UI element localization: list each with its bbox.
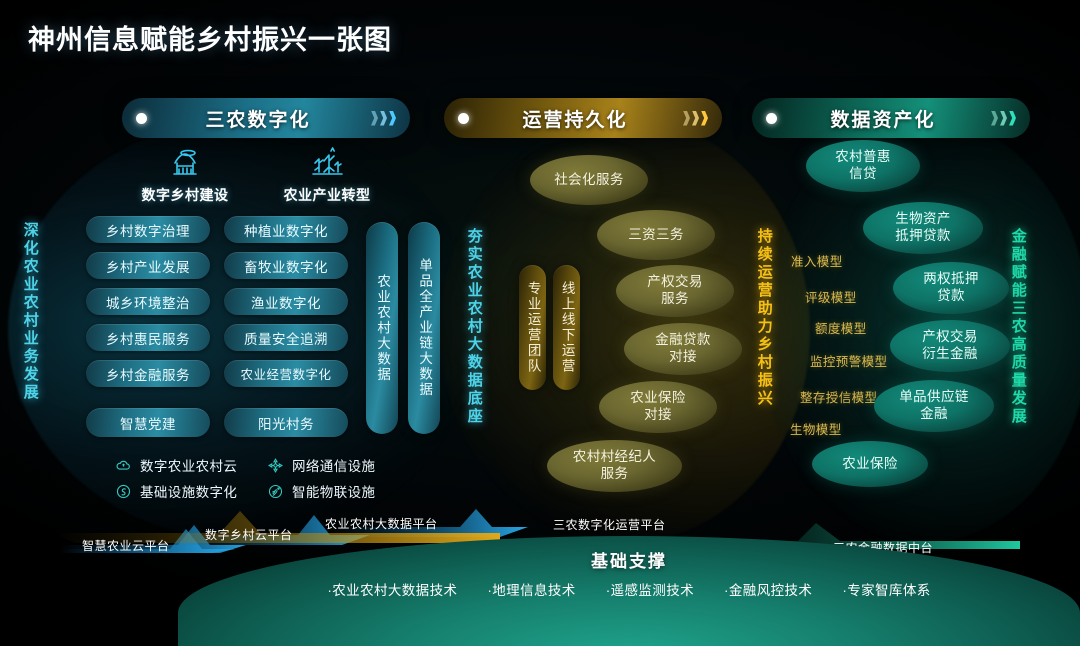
model-label: 整存授信模型 [800,387,877,406]
chevron-right-icon [681,111,708,126]
ellipse-insurance-matching[interactable]: 农业保险对接 [599,381,717,433]
base-item: 金融风控技术 [724,579,812,599]
panel-header-asset[interactable]: 数据资产化 [752,98,1030,138]
chip-item[interactable]: 质量安全追溯 [224,324,348,351]
chip-item[interactable]: 乡村金融服务 [86,360,210,387]
bullet-dot-icon [458,113,469,124]
ellipse-agri-insurance[interactable]: 农业保险 [812,441,928,487]
chip-item[interactable]: 渔业数字化 [224,288,348,315]
footer-item-agri-cloud[interactable]: 数字农业农村云 [115,455,237,475]
iot-icon [267,483,284,500]
bullet-dot-icon [766,113,777,124]
page-title: 神州信息赋能乡村振兴一张图 [28,18,392,57]
cloud-icon [115,457,132,474]
side-caption-finance-empower: 金融赋能三农高质量发展 [1010,228,1026,426]
capsule-supplychain-bigdata[interactable]: 单品全产业链大数据 [408,222,440,434]
side-caption-bigdata-base: 夯实农业农村大数据底座 [466,228,482,426]
arrow-label-digital-village-cloud: 数字乡村云平台 [205,526,293,543]
arrow-label-sannong-digital-ops: 三农数字化运营平台 [553,516,666,533]
chevron-right-icon [369,111,396,126]
ellipse-loan-matching[interactable]: 金融贷款对接 [624,323,742,375]
panel-header-label: 运营持久化 [469,105,681,132]
base-item: 地理信息技术 [487,579,575,599]
icon-group-label: 数字乡村建设 [120,185,250,205]
panel-header-label: 数据资产化 [777,105,989,132]
side-caption-deepen-agri: 深化农业农村业务发展 [22,222,38,402]
capsule-pro-ops-team[interactable]: 专业运营团队 [519,265,546,390]
chip-item[interactable]: 种植业数字化 [224,216,348,243]
base-item: 遥感监测技术 [606,579,694,599]
model-label: 额度模型 [815,318,867,337]
footer-item-label: 网络通信设施 [292,455,375,475]
chevron-right-icon [989,111,1016,126]
footer-item-label: 基础设施数字化 [140,481,237,501]
forest-icon [262,140,392,182]
network-icon [267,457,284,474]
base-support-title: 基础支撑 [178,547,1080,572]
side-caption-sustained-ops: 持续运营助力乡村振兴 [756,228,772,408]
panel-header-digital[interactable]: 三农数字化 [122,98,410,138]
capsule-online-offline-ops[interactable]: 线上线下运营 [553,265,580,390]
panel-header-label: 三农数字化 [147,105,369,132]
chip-item[interactable]: 乡村数字治理 [86,216,210,243]
footer-item-label: 数字农业农村云 [140,455,237,475]
ellipse-three-assets-affairs[interactable]: 三资三务 [597,210,715,260]
infographic-canvas: 神州信息赋能乡村振兴一张图 三农数字化 运营持久化 数据资产化 深化农业农村业务… [0,0,1080,607]
chip-item-smart-party[interactable]: 智慧党建 [86,408,210,437]
bridge-icon [120,140,250,182]
footer-item-network[interactable]: 网络通信设施 [267,455,375,475]
chip-item[interactable]: 乡村产业发展 [86,252,210,279]
capsule-label: 单品全产业链大数据 [417,258,431,398]
ellipse-two-rights-mortgage[interactable]: 两权抵押贷款 [893,262,1009,314]
panel-header-operation[interactable]: 运营持久化 [444,98,722,138]
model-label: 生物模型 [790,419,842,438]
ellipse-rural-inclusive-credit[interactable]: 农村普惠信贷 [806,140,920,192]
chip-item[interactable]: 畜牧业数字化 [224,252,348,279]
footer-item-iot[interactable]: 智能物联设施 [267,481,375,501]
icon-group-label: 农业产业转型 [262,185,392,205]
chip-item-sunshine-affairs[interactable]: 阳光村务 [224,408,348,437]
chip-item[interactable]: 农业经营数字化 [224,360,348,387]
bullet-dot-icon [136,113,147,124]
chip-item[interactable]: 乡村惠民服务 [86,324,210,351]
icon-group-digital-village: 数字乡村建设 [120,140,250,205]
ellipse-single-supplychain-finance[interactable]: 单品供应链金融 [874,380,994,432]
ellipse-property-derivative-finance[interactable]: 产权交易衍生金融 [890,320,1010,372]
arrow-label-agri-bigdata-platform: 农业农村大数据平台 [325,515,438,532]
model-label: 评级模型 [805,287,857,306]
capsule-agri-bigdata[interactable]: 农业农村大数据 [366,222,398,434]
footer-item-label: 智能物联设施 [292,481,375,501]
ellipse-socialized-service[interactable]: 社会化服务 [530,155,648,205]
base-support-items: 农业农村大数据技术 地理信息技术 遥感监测技术 金融风控技术 专家智库体系 [178,579,1080,599]
ellipse-bio-asset-mortgage[interactable]: 生物资产抵押贷款 [863,202,983,254]
footer-item-digital-infra[interactable]: 基础设施数字化 [115,481,237,501]
digital-infra-icon [115,483,132,500]
capsule-label: 线上线下运营 [559,281,573,374]
base-support-section: 基础支撑 农业农村大数据技术 地理信息技术 遥感监测技术 金融风控技术 专家智库… [178,536,1080,646]
ellipse-rural-broker-service[interactable]: 农村村经纪人服务 [547,440,682,492]
capsule-label: 农业农村大数据 [375,274,389,383]
base-item: 农业农村大数据技术 [327,579,457,599]
capsule-label: 专业运营团队 [525,281,539,374]
ellipse-property-trade-service[interactable]: 产权交易服务 [616,265,734,317]
icon-group-agri-transform: 农业产业转型 [262,140,392,205]
chip-item[interactable]: 城乡环境整治 [86,288,210,315]
arrow-label-smart-agri-cloud: 智慧农业云平台 [82,537,170,554]
model-label: 监控预警模型 [810,351,887,370]
base-item: 专家智库体系 [842,579,930,599]
model-label: 准入模型 [791,251,843,270]
